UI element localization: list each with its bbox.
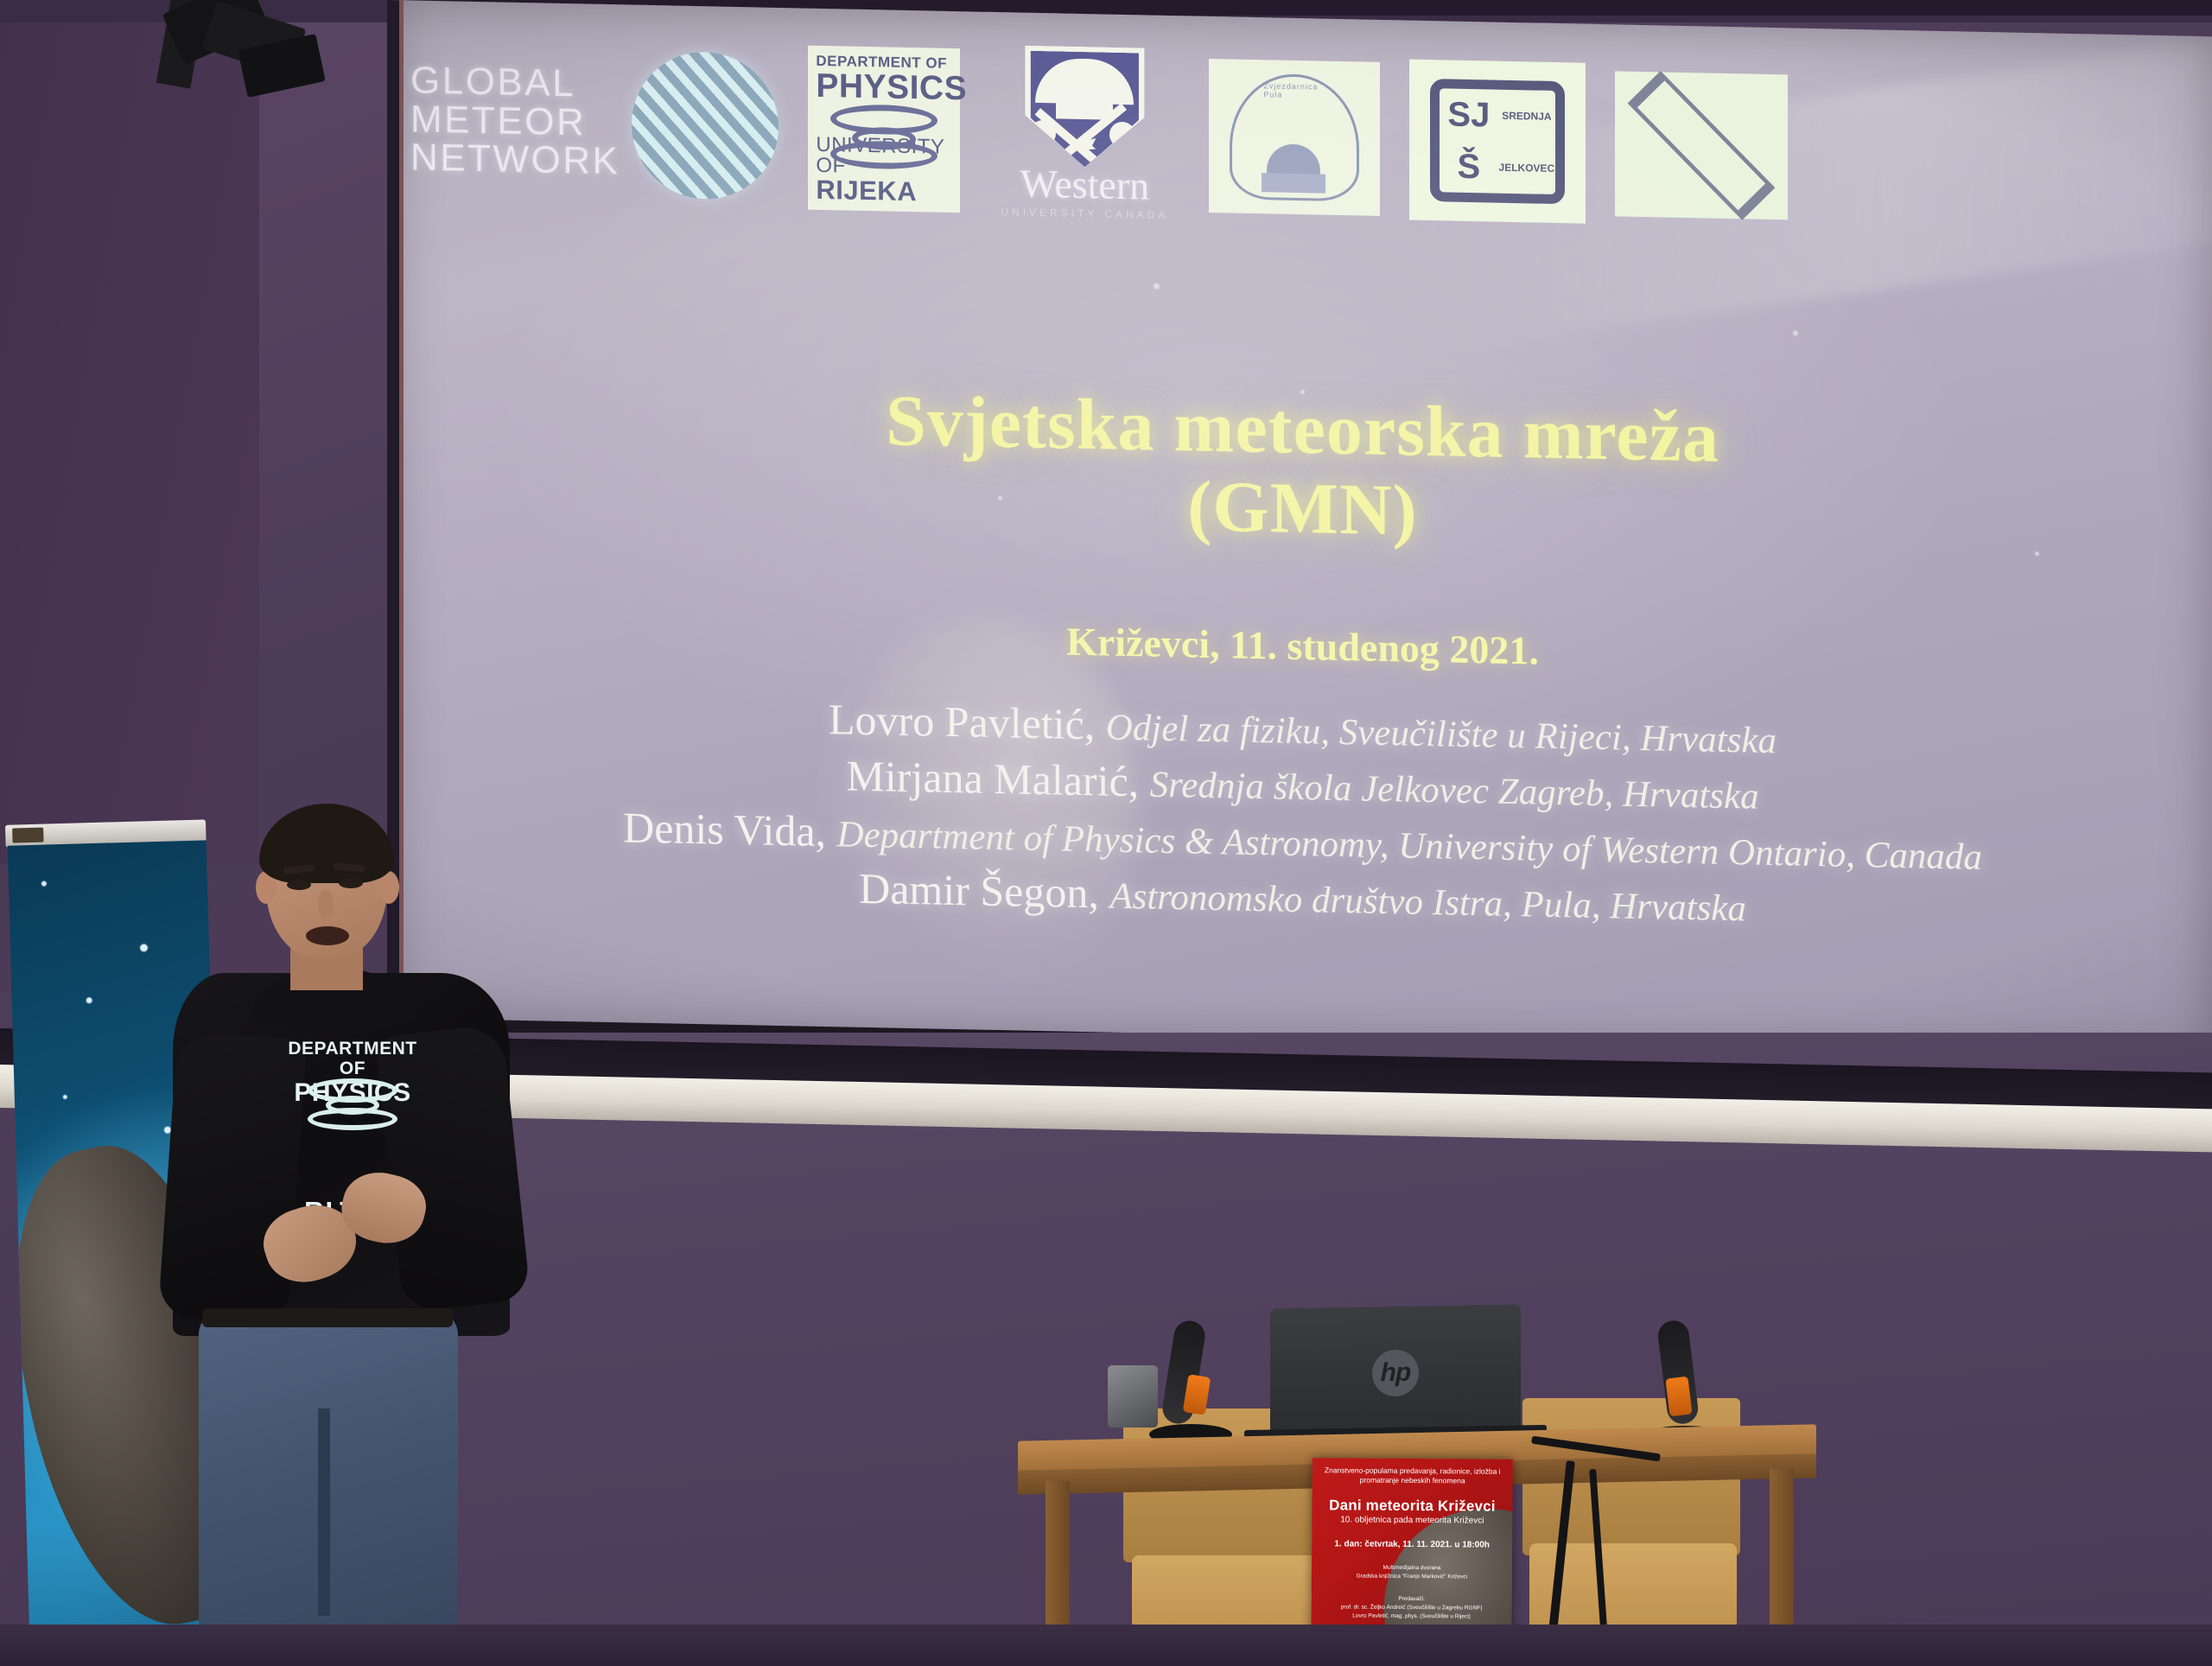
presenter-mouth [306,926,349,945]
western-university-logo: Western UNIVERSITY·CANADA [989,45,1179,221]
presenter-left-eye [287,880,311,890]
gmn-logo-line3: NETWORK [410,139,620,182]
poster-date: 1. dan: četvrtak, 11. 11. 2021. u 18:00h [1312,1539,1512,1551]
compact-camera [1108,1365,1158,1428]
rollup-banner-clip [12,828,43,843]
poster-venue: Gradska knjižnica "Franjo Marković" Križ… [1312,1572,1512,1581]
poster-organiser-block: Predavači: prof. dr. sc. Željko Andreić … [1312,1594,1512,1621]
author-name: Damir Šegon, [859,864,1099,918]
hoodie-rings-icon [304,1078,401,1134]
jelkovec-line3: JELKOVEC [1497,142,1555,194]
slide-title: Svjetska meteorska mreža (GMN) [393,372,2212,566]
gmn-logo: GLOBAL METEOR NETWORK [410,46,779,200]
jelkovec-mark: SJ [1440,88,1497,141]
presenter-belt [202,1308,453,1327]
slide-author-list: Lovro Pavletić, Odjel za fiziku, Sveučil… [393,683,2212,944]
lecture-hall-scene: GLOBAL METEOR NETWORK DEPARTMENT OF PHYS… [0,0,2212,1666]
rijeka-logo-line2: PHYSICS [816,70,967,105]
laptop[interactable]: hp [1270,1304,1521,1436]
slide-logo-row: GLOBAL METEOR NETWORK DEPARTMENT OF PHYS… [393,24,2212,251]
author-affiliation: Astronomsko društvo Istra, Pula, Hrvatsk… [1109,876,1746,930]
rhombus-icon [1637,99,1766,192]
presenter-right-eye [339,878,363,888]
western-wordmark: Western [1020,164,1150,207]
pula-caption: Zvjezdarnica Pula [1263,81,1325,99]
hp-logo: hp [1372,1349,1419,1396]
presenter-hair [259,804,394,883]
poster-subtitle: Znanstveno-populama predavanja, radionic… [1313,1466,1513,1485]
poster-organiser-2: Lovro Pavletić, mag. phys. (Sveučilište … [1312,1612,1512,1621]
author-name: Mirjana Malarić, [846,752,1139,806]
jelkovec-mark2: Š [1440,140,1497,193]
rijeka-rings-icon [828,104,940,136]
poster-subtitle2: 10. obljetnica pada meteorita Križevci [1312,1515,1512,1527]
author-name: Denis Vida, [623,803,826,855]
jelkovec-name: SREDNJA [1497,90,1555,143]
jelkovec-school-logo: SJ SREDNJA Š JELKOVEC [1409,60,1586,224]
pula-observatory-logo: Zvjezdarnica Pula [1209,59,1380,216]
author-affiliation: Odjel za fiziku, Sveučilište u Rijeci, H… [1106,708,1777,762]
projection-screen: GLOBAL METEOR NETWORK DEPARTMENT OF PHYS… [393,0,2212,1060]
author-affiliation: Srednja škola Jelkovec Zagreb, Hrvatska [1150,765,1759,817]
poster-organiser-1: prof. dr. sc. Željko Andreić (Sveučilišt… [1312,1603,1512,1612]
left-wall-panel [0,0,259,864]
floor [0,1625,2212,1666]
rhombus-logo [1615,71,1788,219]
microphone-right-grip [1665,1377,1692,1417]
western-shield-icon [1020,46,1149,169]
rijeka-physics-logo: DEPARTMENT OF PHYSICS UNIVERSITY OF RIJE… [808,46,960,213]
poster-venue-block: Multimedijalna dvorana Gradska knjižnica… [1312,1563,1512,1581]
presenter-jeans-seam [318,1408,330,1616]
author-name: Lovro Pavletić, [829,695,1095,748]
gmn-striped-circle-icon [632,51,779,200]
rijeka-logo-line4: RIJEKA [816,176,917,205]
presenter-nose [318,890,334,919]
poster-title: Dani meteorita Križevci [1312,1496,1512,1516]
hoodie-print: DEPARTMENT OF PHYSICS [283,1039,422,1168]
western-subtext: UNIVERSITY·CANADA [1001,206,1168,221]
slide-date: Križevci, 11. studenog 2021. [393,605,2212,687]
hoodie-line1: DEPARTMENT OF [283,1039,422,1078]
pula-crest-icon: Zvjezdarnica Pula [1230,73,1359,201]
presenter: DEPARTMENT OF PHYSICS RIJEKA [173,804,536,1666]
